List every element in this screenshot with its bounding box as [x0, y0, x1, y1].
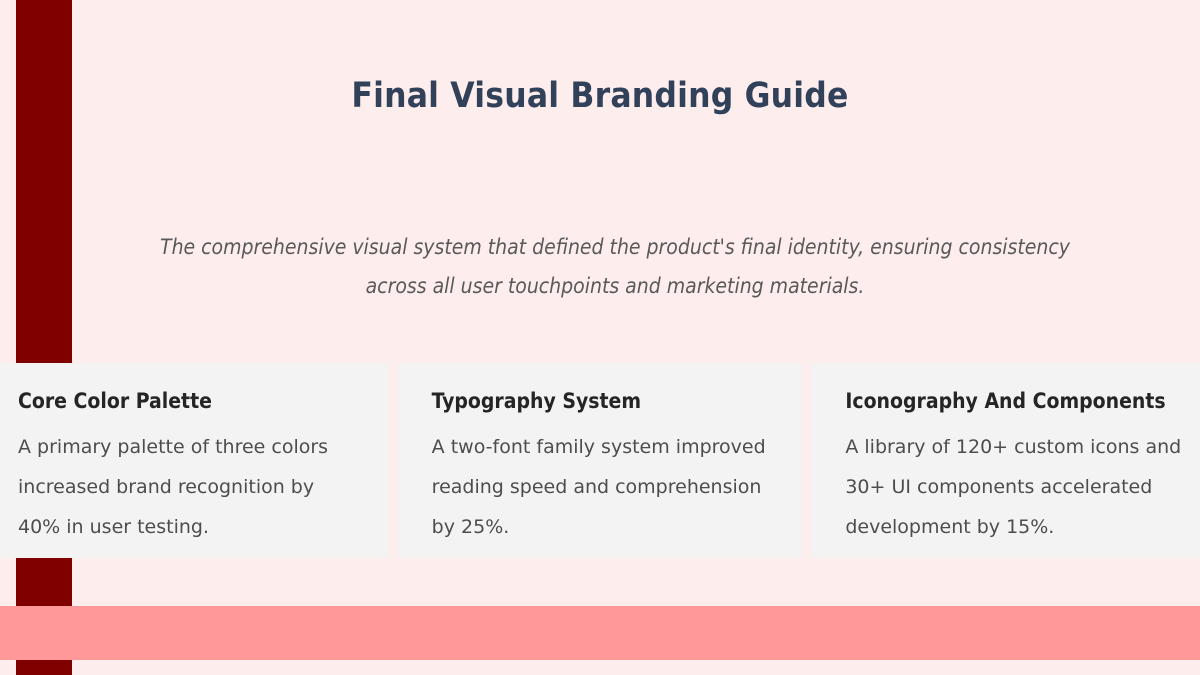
feature-card-iconography-and-components[interactable]: Iconography And Components A library of … [811, 363, 1200, 558]
card-body: A library of 120+ custom icons and 30+ U… [845, 427, 1182, 547]
feature-card-core-color-palette[interactable]: Core Color Palette A primary palette of … [0, 363, 389, 558]
feature-card-list: Core Color Palette A primary palette of … [0, 363, 1200, 558]
slide-canvas: Final Visual Branding Guide The comprehe… [0, 0, 1200, 675]
card-body: A primary palette of three colors increa… [18, 427, 355, 547]
feature-card-typography-system[interactable]: Typography System A two-font family syst… [398, 363, 803, 558]
card-title: Iconography And Components [845, 387, 1182, 415]
card-title: Core Color Palette [18, 387, 355, 415]
page-subtitle: The comprehensive visual system that def… [150, 228, 1080, 306]
subtitle-line-1: The comprehensive visual system that def… [150, 228, 1080, 267]
card-body: A two-font family system improved readin… [432, 427, 769, 547]
page-title: Final Visual Branding Guide [0, 71, 1200, 121]
accent-bar-horizontal [0, 606, 1200, 660]
card-title: Typography System [432, 387, 769, 415]
subtitle-line-2: across all user touchpoints and marketin… [150, 267, 1080, 306]
